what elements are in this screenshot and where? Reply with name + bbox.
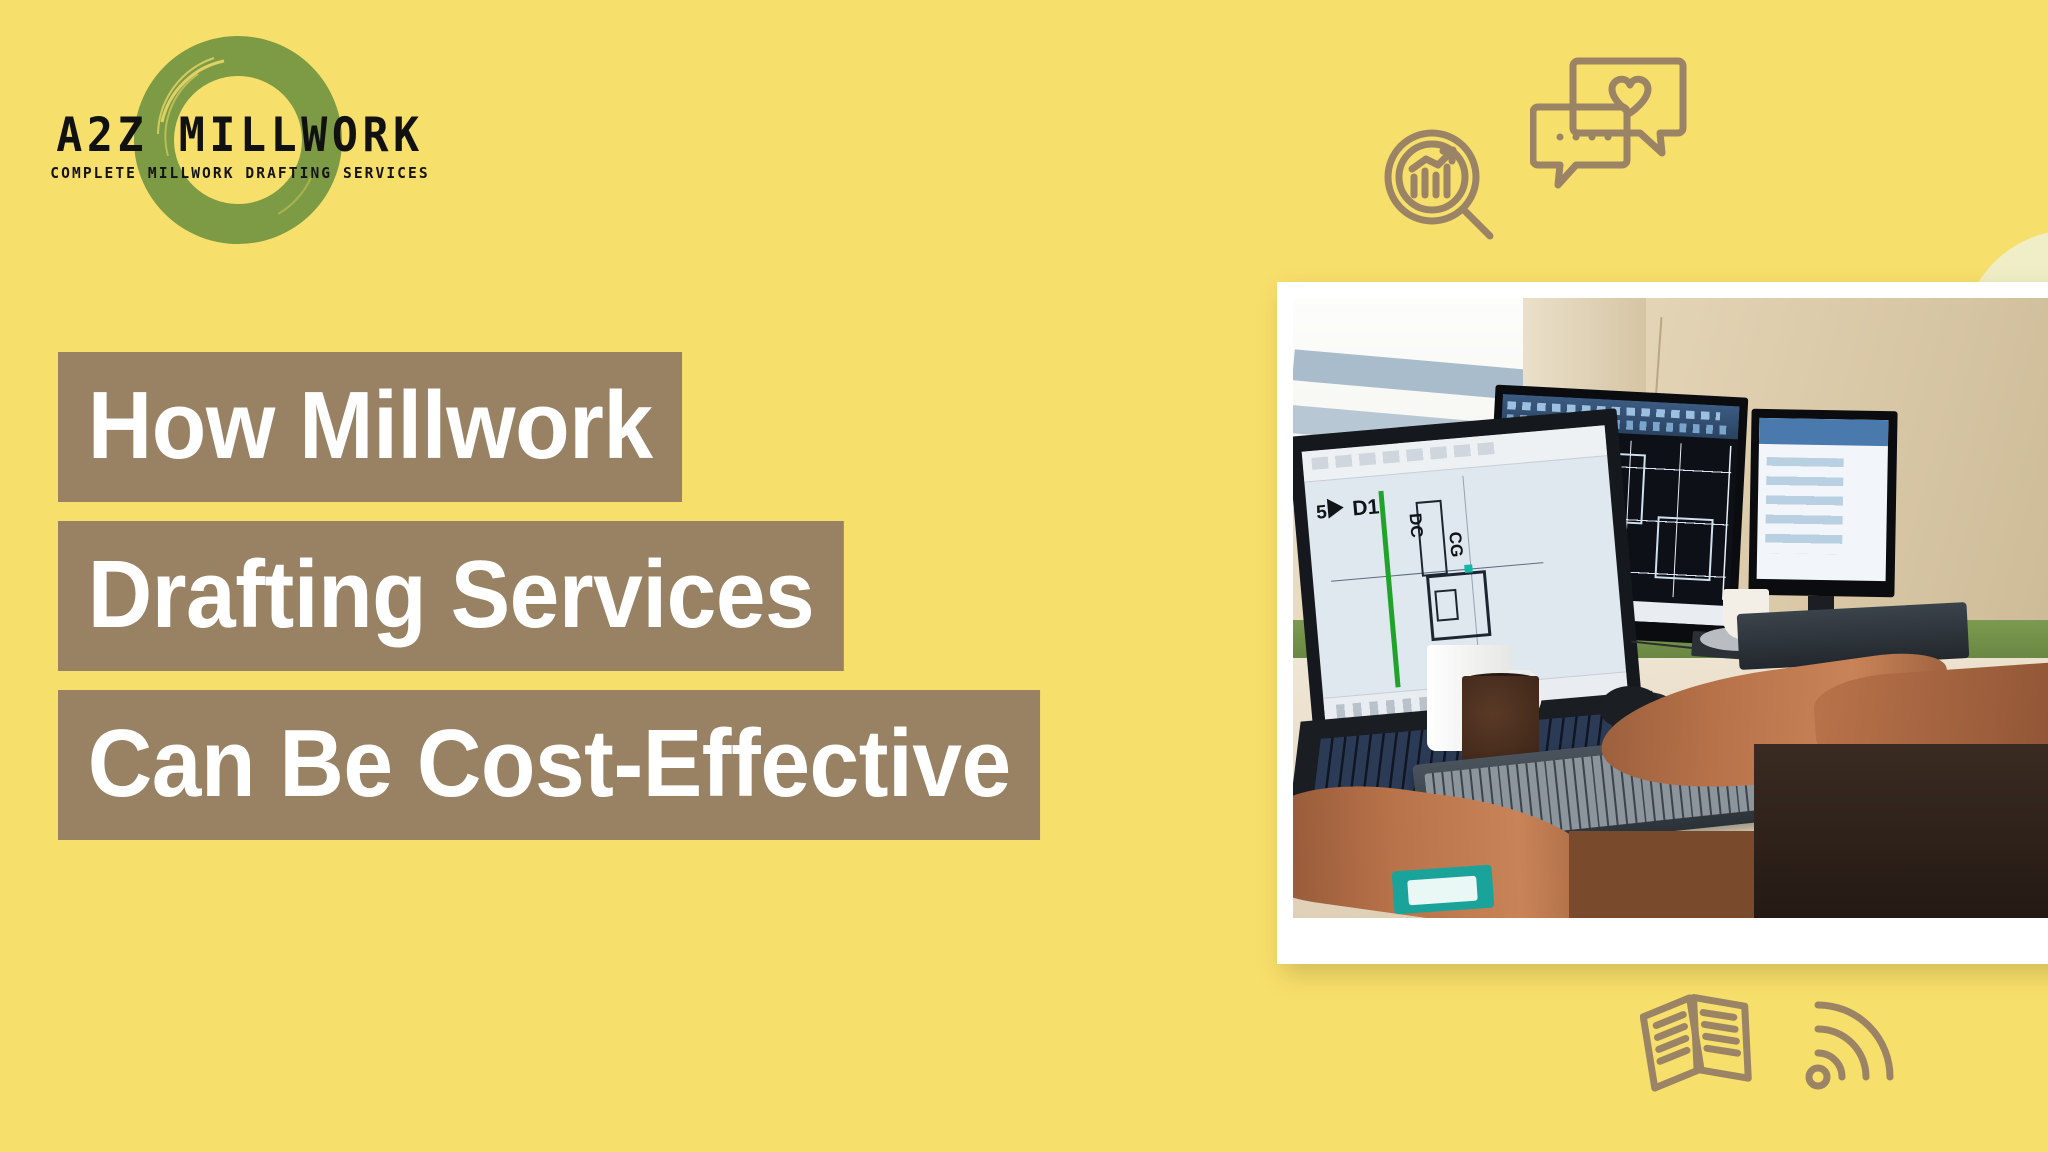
blog-banner: A2Z MILLWORK COMPLETE MILLWORK DRAFTING …	[0, 0, 2048, 1152]
office-desk-photo: acer 5 D1 DC CG	[1293, 298, 2048, 918]
cad-label-dc: DC	[1405, 512, 1427, 538]
page-title: How Millwork Drafting Services Can Be Co…	[58, 352, 1114, 840]
headline-line-1: How Millwork	[58, 352, 682, 502]
photo-card: acer 5 D1 DC CG	[1277, 282, 2048, 964]
chat-heart-icon	[1530, 55, 1690, 195]
cad-label-cg: CG	[1444, 530, 1466, 557]
cad-label-5: 5	[1315, 501, 1327, 524]
analytics-magnifier-icon	[1380, 125, 1500, 245]
headline-line-3: Can Be Cost-Effective	[58, 690, 1040, 840]
brand-logo[interactable]: A2Z MILLWORK COMPLETE MILLWORK DRAFTING …	[20, 14, 440, 254]
wifi-signal-icon	[1800, 985, 1910, 1095]
headline-line-2: Drafting Services	[58, 521, 844, 671]
cad-label-d1: D1	[1351, 495, 1380, 521]
logo-tagline: COMPLETE MILLWORK DRAFTING SERVICES	[50, 166, 430, 182]
open-book-icon	[1640, 985, 1760, 1095]
logo-wordmark: A2Z MILLWORK	[54, 112, 426, 159]
